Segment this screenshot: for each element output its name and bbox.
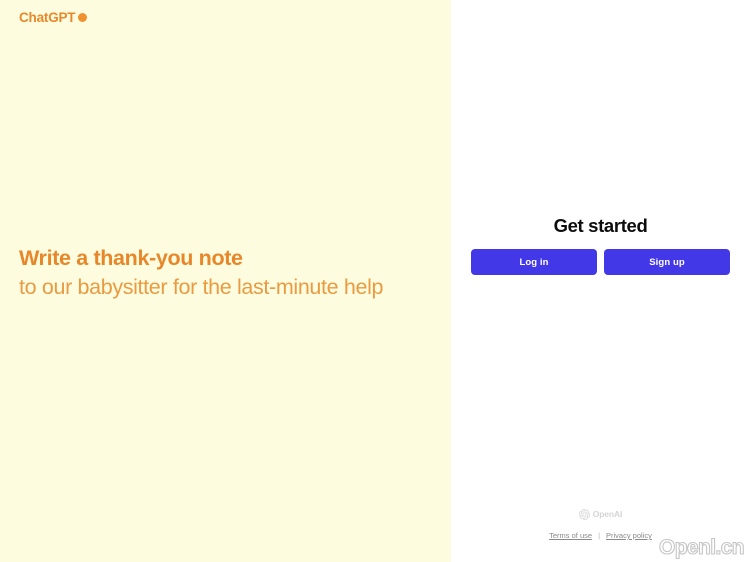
promo-headline: Write a thank-you note (19, 243, 419, 273)
auth-button-group: Log in Sign up (471, 249, 730, 275)
footer-separator: | (598, 531, 600, 540)
chatgpt-login-page: ChatGPT Write a thank-you note to our ba… (0, 0, 750, 562)
chatgpt-brand-label: ChatGPT (19, 11, 75, 25)
privacy-policy-link[interactable]: Privacy policy (606, 531, 652, 540)
orange-dot-icon (78, 13, 87, 22)
chatgpt-brand-logo[interactable]: ChatGPT (19, 11, 87, 25)
openai-logo: OpenAI (579, 509, 623, 520)
promo-subline: to our babysitter for the last-minute he… (19, 273, 399, 301)
footer: OpenAI Terms of use | Privacy policy (451, 509, 750, 540)
footer-links: Terms of use | Privacy policy (549, 531, 652, 540)
openai-logo-label: OpenAI (593, 510, 623, 519)
terms-of-use-link[interactable]: Terms of use (549, 531, 592, 540)
promo-panel: ChatGPT Write a thank-you note to our ba… (0, 0, 451, 562)
promo-text-block: Write a thank-you note to our babysitter… (19, 243, 419, 301)
openai-knot-icon (579, 509, 590, 520)
signup-button[interactable]: Sign up (604, 249, 730, 275)
page-title: Get started (554, 216, 648, 236)
get-started-block: Get started Log in Sign up (451, 216, 750, 275)
auth-panel: Get started Log in Sign up OpenAI Terms … (451, 0, 750, 562)
login-button[interactable]: Log in (471, 249, 597, 275)
